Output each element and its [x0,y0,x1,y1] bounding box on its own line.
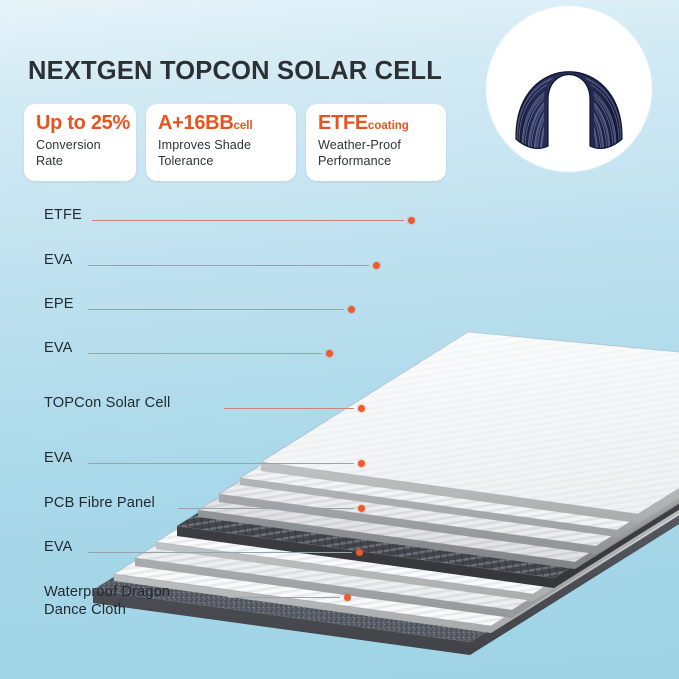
leader-line [88,552,352,553]
leader-line [88,265,369,266]
leader-dot [358,505,365,512]
leader-dot [358,460,365,467]
leader-dot [373,262,380,269]
layer-label-eva: EVA [44,450,73,468]
feature-card-heading-main: ETFE [318,112,368,134]
leader-line [88,309,344,310]
feature-card-heading: Up to 25% [36,113,124,134]
feature-card-heading: ETFEcoating [318,113,434,134]
layer-label-waterproof-dragon-dance-cloth: Waterproof Dragon Dance Cloth [44,584,170,620]
leader-dot [326,350,333,357]
leader-line [92,220,404,221]
layer-label-eva: EVA [44,340,73,358]
leader-dot [348,306,355,313]
leader-dot [356,549,363,556]
feature-card-heading-sub: cell [233,120,252,132]
feature-card-heading-main: A+16BB [158,112,233,134]
layer-label-eva: EVA [44,252,73,270]
layer-label-pcb-fibre-panel: PCB Fibre Panel [44,495,155,513]
curved-solar-panel-icon [486,6,652,172]
leader-dot [358,405,365,412]
feature-card-heading-main: Up to 25% [36,112,130,134]
leader-line [88,353,322,354]
page-title: NEXTGEN TOPCON SOLAR CELL [28,57,442,86]
product-inset [486,6,652,172]
leader-line [88,463,354,464]
infographic-root: NEXTGEN TOPCON SOLAR CELL Up to 25% Conv… [0,0,679,679]
leader-line [224,408,354,409]
feature-card-heading: A+16BBcell [158,113,284,134]
leader-dot [344,594,351,601]
layer-label-eva: EVA [44,539,73,557]
feature-card-heading-sub: coating [368,120,409,132]
leader-line [228,597,340,598]
layer-label-etfe: ETFE [44,207,82,225]
leader-dot [408,217,415,224]
layer-label-epe: EPE [44,296,74,314]
layer-label-topcon-solar-cell: TOPCon Solar Cell [44,395,170,413]
leader-line [178,508,354,509]
